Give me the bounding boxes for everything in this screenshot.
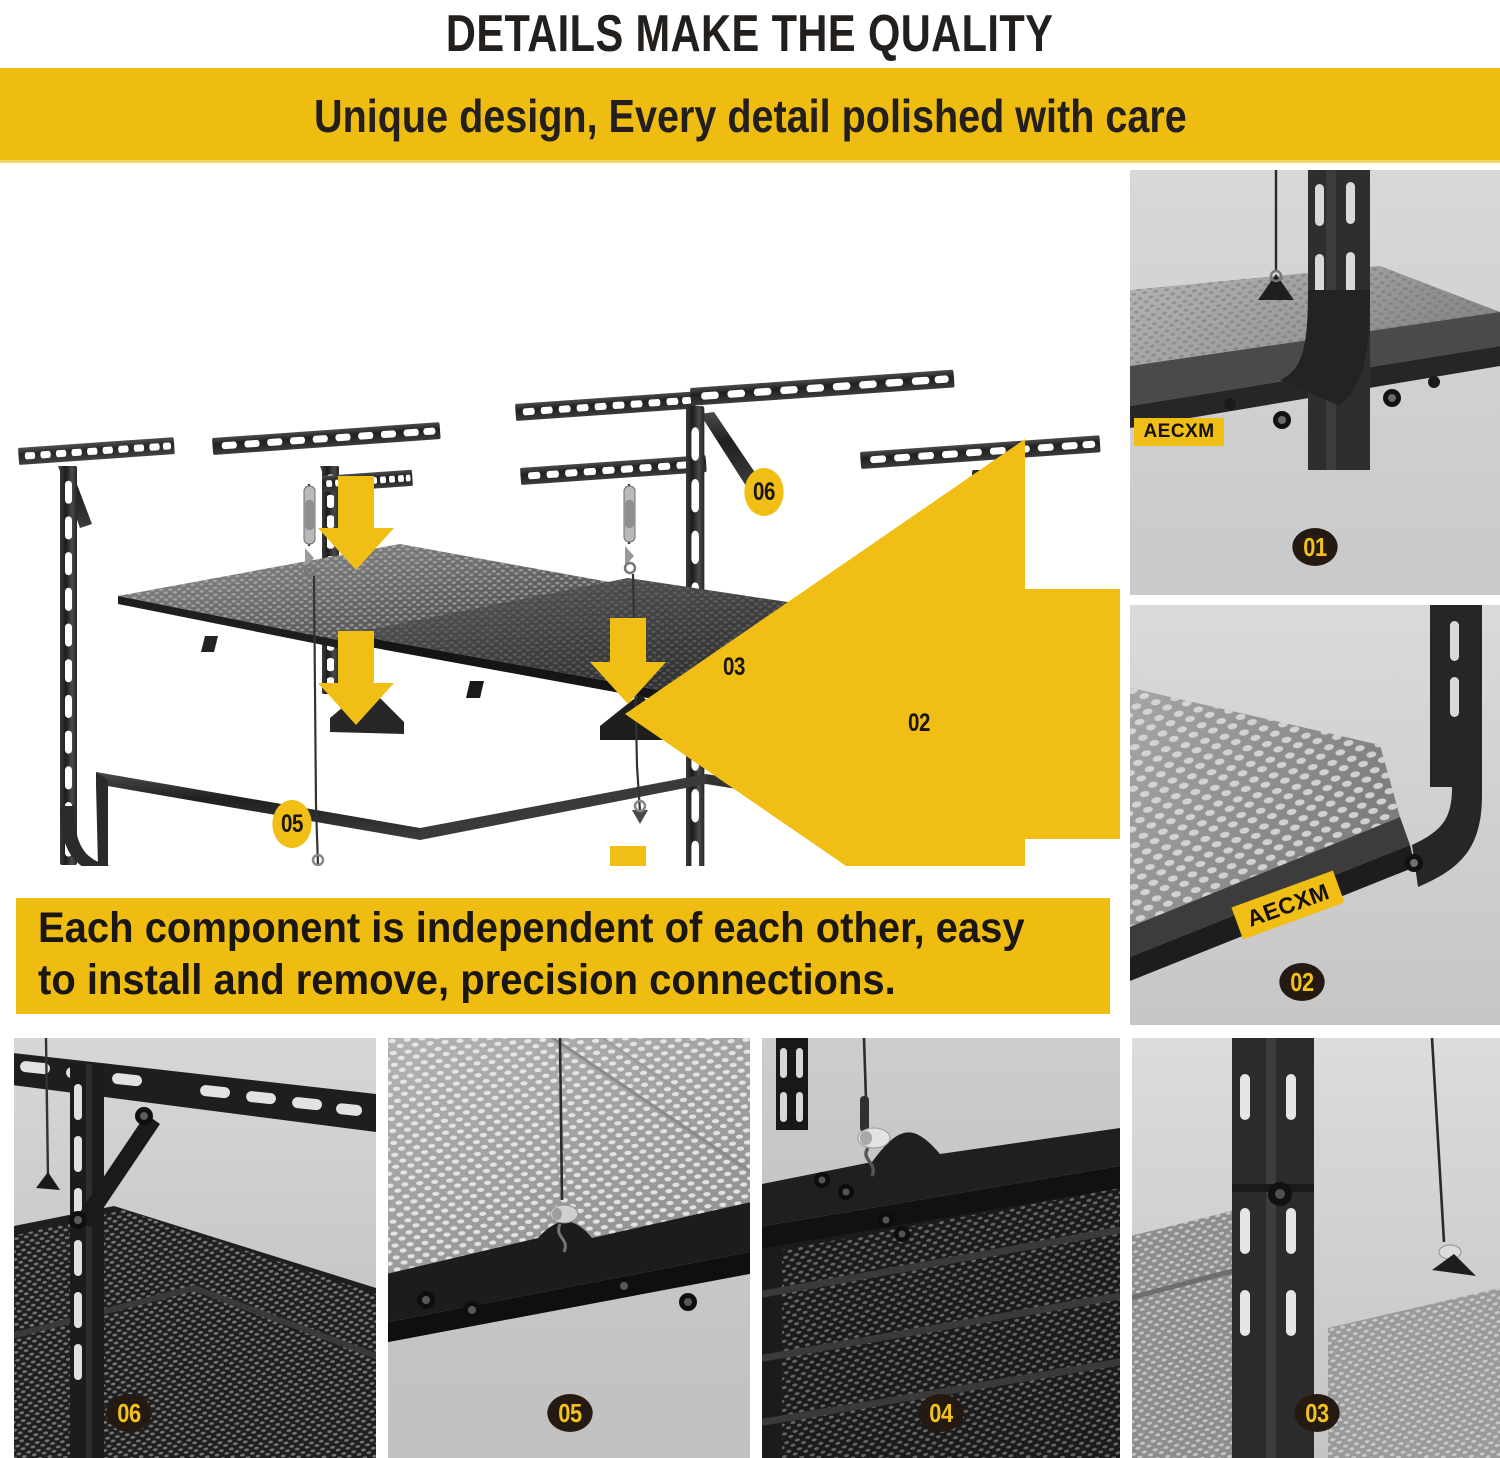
infographic-page: DETAILS MAKE THE QUALITY Unique design, … — [0, 0, 1500, 1458]
detail-panel-01-badge[interactable]: 01 — [1292, 528, 1337, 566]
detail-panel-05-badge[interactable]: 05 — [547, 1394, 592, 1432]
detail-panel-03-badge[interactable]: 03 — [1294, 1394, 1339, 1432]
hero-callout-03[interactable]: 03 — [714, 643, 753, 691]
hero-callout-06-label: 06 — [753, 478, 775, 507]
hero-callout-05[interactable]: 05 — [272, 800, 311, 848]
detail-panel-05-badge-label: 05 — [558, 1398, 581, 1429]
page-title: DETAILS MAKE THE QUALITY — [446, 8, 1053, 60]
detail-panel-01[interactable]: AECXM 01 — [1130, 170, 1500, 595]
statement-line-2: to install and remove, precision connect… — [38, 954, 1015, 1006]
detail-panel-02[interactable]: AECXM 02 — [1130, 605, 1500, 1025]
statement-box: Each component is independent of each ot… — [16, 898, 1110, 1014]
hero-product-diagram: Adjustable AECXM 06 03 02 05 04 01 — [0, 166, 1120, 866]
hero-callout-06[interactable]: 06 — [744, 468, 783, 516]
statement-line-1: Each component is independent of each ot… — [38, 902, 1015, 954]
detail-panel-06[interactable]: 06 — [14, 1038, 376, 1458]
detail-panel-02-badge[interactable]: 02 — [1279, 963, 1324, 1001]
hero-callout-02-label: 02 — [908, 709, 930, 738]
detail-panel-03-badge-label: 03 — [1305, 1398, 1328, 1429]
detail-panel-03[interactable]: 03 — [1132, 1038, 1500, 1458]
hero-callout-03-label: 03 — [723, 653, 745, 682]
hero-callout-05-label: 05 — [281, 810, 303, 839]
adjustable-annotation: Adjustable — [615, 364, 1120, 866]
hero-callout-02[interactable]: 02 — [899, 699, 938, 747]
detail-panel-02-badge-label: 02 — [1290, 967, 1313, 998]
arrow-left-icon — [615, 364, 1120, 866]
detail-panel-04-badge-label: 04 — [929, 1398, 952, 1429]
detail-panel-01-badge-label: 01 — [1303, 532, 1326, 563]
detail-panel-04-badge[interactable]: 04 — [918, 1394, 963, 1432]
detail-photo-02 — [1130, 605, 1500, 1025]
page-subtitle: Unique design, Every detail polished wit… — [314, 93, 1187, 139]
assembly-arrow — [318, 476, 666, 866]
detail-photo-06 — [14, 1038, 376, 1458]
detail-panel-06-badge-label: 06 — [117, 1398, 140, 1429]
detail-panel-06-badge[interactable]: 06 — [106, 1394, 151, 1432]
detail-panel-05[interactable]: 05 — [388, 1038, 750, 1458]
detail-panel-01-brand-text: AECXM — [1143, 421, 1214, 443]
detail-panel-01-brand-plate: AECXM — [1134, 418, 1224, 446]
header-subtitle-bar: Unique design, Every detail polished wit… — [0, 68, 1500, 163]
header-title-bar: DETAILS MAKE THE QUALITY — [0, 0, 1500, 68]
detail-panel-04[interactable]: 04 — [762, 1038, 1120, 1458]
